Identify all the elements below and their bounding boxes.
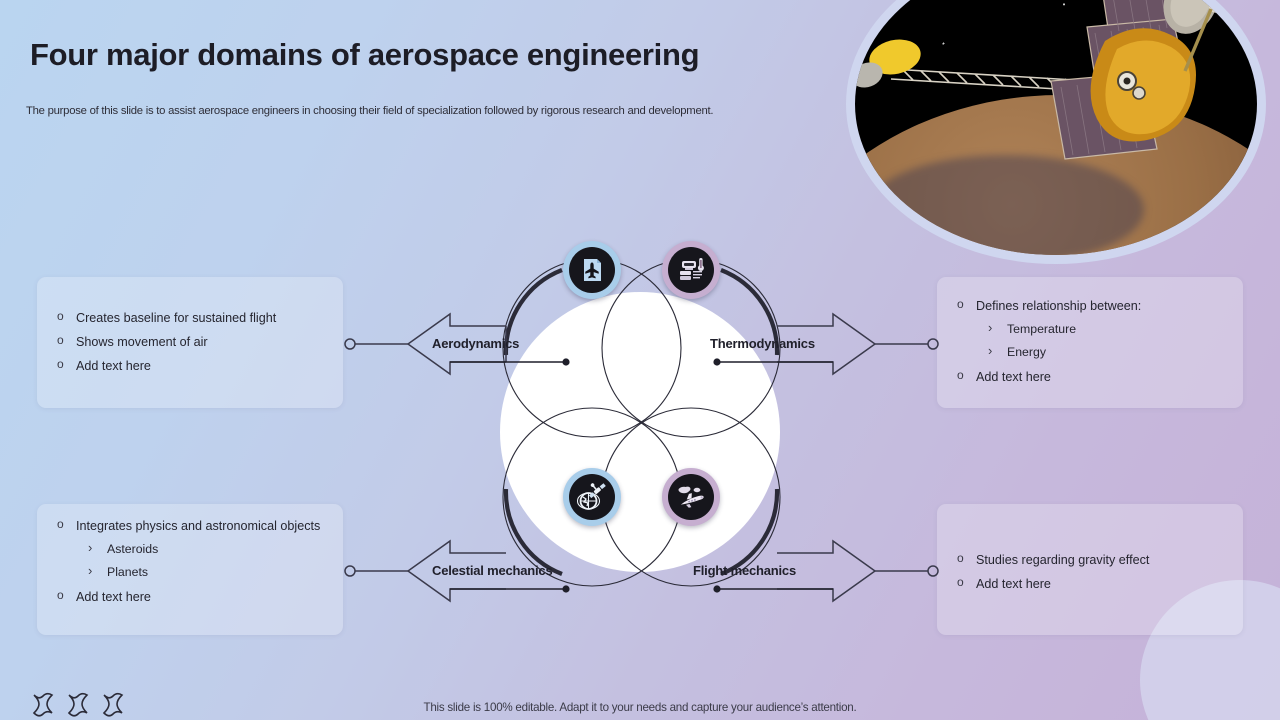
info-card-flight-mechanics[interactable]: Studies regarding gravity effectAdd text… <box>937 504 1243 635</box>
center-circle <box>500 292 780 572</box>
four-domains-diagram: Aerodynamics Thermodynamics Celestial me… <box>340 222 940 642</box>
list-item: Add text here <box>955 576 1233 592</box>
list-item: Creates baseline for sustained flight <box>55 310 333 326</box>
satellite-illustration <box>855 0 1257 255</box>
domain-label-aerodynamics: Aerodynamics <box>432 336 519 351</box>
list-item: Energy <box>955 345 1233 360</box>
thermal-report-icon <box>668 247 714 293</box>
endpoint-dot-top-right <box>928 339 938 349</box>
list-item: Studies regarding gravity effect <box>955 552 1233 568</box>
bullet-list: Studies regarding gravity effectAdd text… <box>955 552 1233 592</box>
domain-label-flight-mechanics: Flight mechanics <box>693 563 796 578</box>
list-item: Defines relationship between: <box>955 298 1233 314</box>
logo-marks <box>30 692 126 718</box>
logo-mark-icon <box>100 692 126 718</box>
logo-mark-icon <box>30 692 56 718</box>
icon-badge-flight-mechanics[interactable] <box>662 468 720 526</box>
icon-badge-celestial-mechanics[interactable] <box>563 468 621 526</box>
list-item: Integrates physics and astronomical obje… <box>55 518 333 534</box>
list-item: Add text here <box>55 589 333 605</box>
satellite-mars-image <box>855 0 1257 255</box>
page-subtitle: The purpose of this slide is to assist a… <box>26 105 826 117</box>
footer-note: This slide is 100% editable. Adapt it to… <box>0 701 1280 714</box>
list-item: Planets <box>55 565 333 580</box>
airplane-clouds-icon <box>668 474 714 520</box>
domain-label-celestial-mechanics: Celestial mechanics <box>432 563 553 578</box>
info-card-aerodynamics[interactable]: Creates baseline for sustained flightSho… <box>37 277 343 408</box>
page-title: Four major domains of aerospace engineer… <box>30 38 820 72</box>
list-item: Add text here <box>55 358 333 374</box>
info-card-celestial-mechanics[interactable]: Integrates physics and astronomical obje… <box>37 504 343 635</box>
list-item: Asteroids <box>55 542 333 557</box>
domain-label-thermodynamics: Thermodynamics <box>710 336 815 351</box>
info-card-thermodynamics[interactable]: Defines relationship between:Temperature… <box>937 277 1243 408</box>
bullet-list: Defines relationship between:Temperature… <box>955 298 1233 385</box>
endpoint-dot-top-left <box>345 339 355 349</box>
logo-mark-icon <box>65 692 91 718</box>
icon-badge-aerodynamics[interactable] <box>563 241 621 299</box>
icon-badge-thermodynamics[interactable] <box>662 241 720 299</box>
endpoint-dot-bottom-left <box>345 566 355 576</box>
bullet-list: Creates baseline for sustained flightSho… <box>55 310 333 374</box>
list-item: Add text here <box>955 369 1233 385</box>
diagram-svg <box>340 222 940 642</box>
list-item: Temperature <box>955 322 1233 337</box>
bullet-list: Integrates physics and astronomical obje… <box>55 518 333 605</box>
endpoint-dot-bottom-right <box>928 566 938 576</box>
satellite-globe-icon <box>569 474 615 520</box>
airplane-document-icon <box>569 247 615 293</box>
list-item: Shows movement of air <box>55 334 333 350</box>
